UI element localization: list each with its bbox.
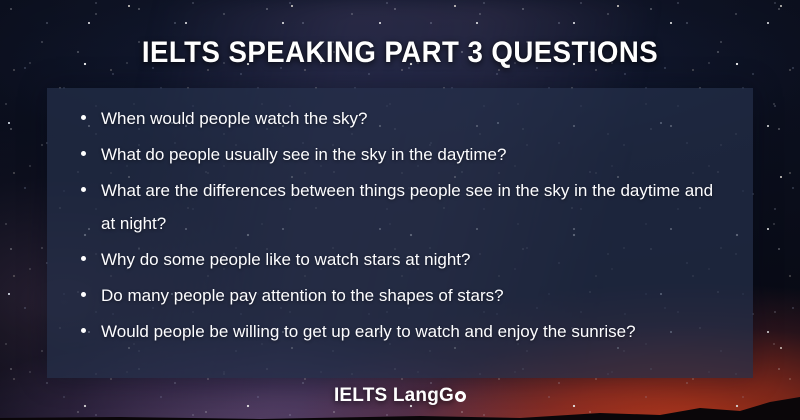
list-item: Do many people pay attention to the shap…	[80, 279, 727, 312]
page-title: IELTS SPEAKING PART 3 QUESTIONS	[32, 36, 768, 70]
list-item: Why do some people like to watch stars a…	[80, 243, 727, 276]
bullet-icon	[81, 151, 86, 156]
list-item: What are the differences between things …	[80, 174, 727, 240]
bullet-icon	[81, 292, 86, 297]
question-text: What do people usually see in the sky in…	[101, 145, 506, 164]
list-item: What do people usually see in the sky in…	[80, 138, 727, 171]
list-item: Would people be willing to get up early …	[80, 315, 727, 348]
list-item: When would people watch the sky?	[80, 102, 727, 135]
brand-logo: IELTS LangG	[0, 385, 800, 407]
question-text: Would people be willing to get up early …	[101, 322, 636, 341]
question-text: Do many people pay attention to the shap…	[101, 286, 504, 305]
brand-ring-icon	[455, 391, 466, 402]
bullet-icon	[81, 328, 86, 333]
bullet-icon	[81, 115, 86, 120]
questions-list: When would people watch the sky? What do…	[47, 88, 753, 348]
brand-letter-g: G	[439, 385, 454, 406]
brand-name-text: IELTS Lang	[334, 385, 439, 406]
questions-panel: When would people watch the sky? What do…	[47, 88, 753, 378]
bullet-icon	[81, 187, 86, 192]
question-text: Why do some people like to watch stars a…	[101, 250, 470, 269]
question-text: When would people watch the sky?	[101, 109, 368, 128]
question-text: What are the differences between things …	[101, 181, 713, 233]
bullet-icon	[81, 256, 86, 261]
poster-canvas: IELTS SPEAKING PART 3 QUESTIONS When wou…	[0, 0, 800, 420]
